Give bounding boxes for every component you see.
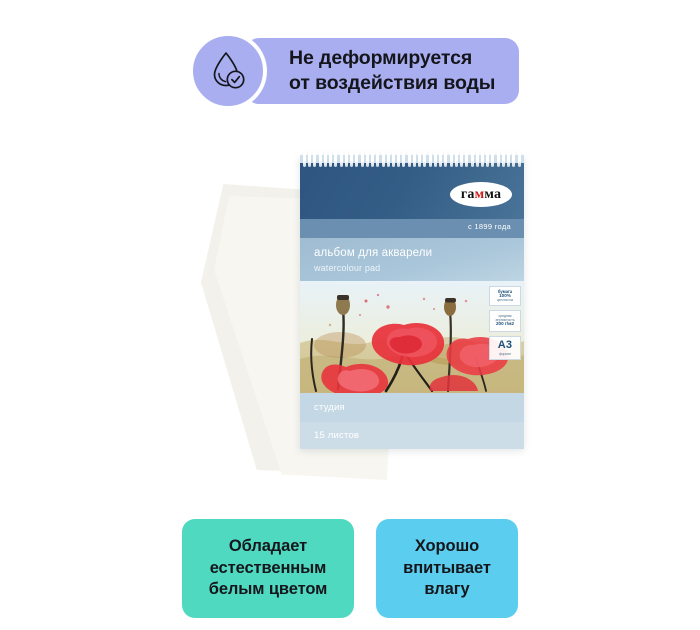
spiral-coil <box>418 152 421 167</box>
spiral-coil <box>486 152 489 167</box>
pad-title-ru: альбом для акварели <box>314 247 524 261</box>
spiral-coil <box>444 152 447 167</box>
feature-badge-pill: Не деформируется от воздействия воды <box>245 38 519 104</box>
spec-box-paper: бумага 100% целлюлоза <box>489 286 521 306</box>
brand-suffix: ма <box>484 187 501 202</box>
spec-box-weight: средняя зернистость 200 г/м2 <box>489 310 521 332</box>
brand-since-text: с 1899 года <box>468 222 511 231</box>
spiral-binding <box>300 152 524 167</box>
spec-box-size: А3 формат <box>489 336 521 360</box>
spiral-coil <box>434 152 437 167</box>
spec-size-format: А3 <box>498 340 512 352</box>
spiral-coil <box>471 152 474 167</box>
spiral-coil <box>460 152 463 167</box>
pad-header-panel: гамма <box>300 163 524 219</box>
spiral-coil <box>507 152 510 167</box>
spiral-coil <box>512 152 515 167</box>
spiral-coil <box>397 152 400 167</box>
spiral-coil <box>387 152 390 167</box>
spiral-coil <box>376 152 379 167</box>
spiral-coil <box>413 152 416 167</box>
spiral-coil <box>450 152 453 167</box>
feature-badge-natural-white-text: Обладает естественным белым цветом <box>209 536 328 602</box>
pad-series-label: студия <box>314 402 345 413</box>
water-drop-check-icon <box>205 46 251 97</box>
brand-prefix: га <box>461 187 475 202</box>
spiral-coil <box>455 152 458 167</box>
pad-series-band: студия <box>300 393 524 422</box>
spiral-coil <box>371 152 374 167</box>
spiral-coil <box>402 152 405 167</box>
spiral-coil <box>481 152 484 167</box>
spiral-coil <box>423 152 426 167</box>
brand-logo-text: гамма <box>461 188 501 202</box>
spiral-coil <box>366 152 369 167</box>
pad-title-panel: альбом для акварели watercolour pad <box>300 238 524 281</box>
spiral-coil <box>408 152 411 167</box>
pad-title-en: watercolour pad <box>314 263 524 273</box>
feature-badge-natural-white: Обладает естественным белым цветом <box>182 519 354 618</box>
spiral-coil <box>476 152 479 167</box>
spiral-coil <box>319 152 322 167</box>
feature-badge-text: Не деформируется от воздействия воды <box>245 46 495 96</box>
brand-highlight: м <box>475 187 485 202</box>
spec-paper-line-3: целлюлоза <box>497 299 513 302</box>
feature-badge-water-resistant: Не деформируется от воздействия воды <box>189 32 519 110</box>
pad-sheet-count-band: 15 листов <box>300 422 524 449</box>
spiral-coil <box>361 152 364 167</box>
feature-badge-absorbs-moisture-text: Хорошо впитывает влагу <box>403 536 491 602</box>
spiral-coil <box>313 152 316 167</box>
spiral-coil <box>502 152 505 167</box>
spiral-coil <box>308 152 311 167</box>
spiral-coil <box>518 152 521 167</box>
spiral-coil <box>350 152 353 167</box>
badge-white-line-3: белым цветом <box>209 579 328 601</box>
spiral-coil <box>491 152 494 167</box>
badge-white-line-2: естественным <box>209 558 328 580</box>
feature-badge-line-1: Не деформируется <box>289 46 495 71</box>
badge-absorb-line-3: влагу <box>403 579 491 601</box>
feature-badge-icon-container <box>189 32 267 110</box>
brand-logo-gamma: гамма <box>450 182 512 207</box>
spec-weight-line-3: 200 г/м2 <box>496 322 514 327</box>
spiral-coil <box>324 152 327 167</box>
spec-size-label: формат <box>499 353 511 357</box>
badge-absorb-line-2: впитывает <box>403 558 491 580</box>
spiral-coil <box>345 152 348 167</box>
spiral-coil <box>329 152 332 167</box>
spiral-coil <box>355 152 358 167</box>
feature-badge-absorbs-moisture: Хорошо впитывает влагу <box>376 519 518 618</box>
watercolour-pad-product: гамма с 1899 года альбом для акварели wa… <box>300 155 524 449</box>
badge-absorb-line-1: Хорошо <box>403 536 491 558</box>
badge-white-line-1: Обладает <box>209 536 328 558</box>
spiral-coil <box>303 152 306 167</box>
spiral-coil <box>340 152 343 167</box>
feature-badge-line-2: от воздействия воды <box>289 71 495 96</box>
spiral-coil <box>465 152 468 167</box>
spiral-coil <box>334 152 337 167</box>
pad-sheet-count-label: 15 листов <box>314 430 359 441</box>
spiral-coil <box>497 152 500 167</box>
spiral-coil <box>439 152 442 167</box>
spiral-coil <box>392 152 395 167</box>
spiral-coil <box>429 152 432 167</box>
spiral-coil <box>382 152 385 167</box>
